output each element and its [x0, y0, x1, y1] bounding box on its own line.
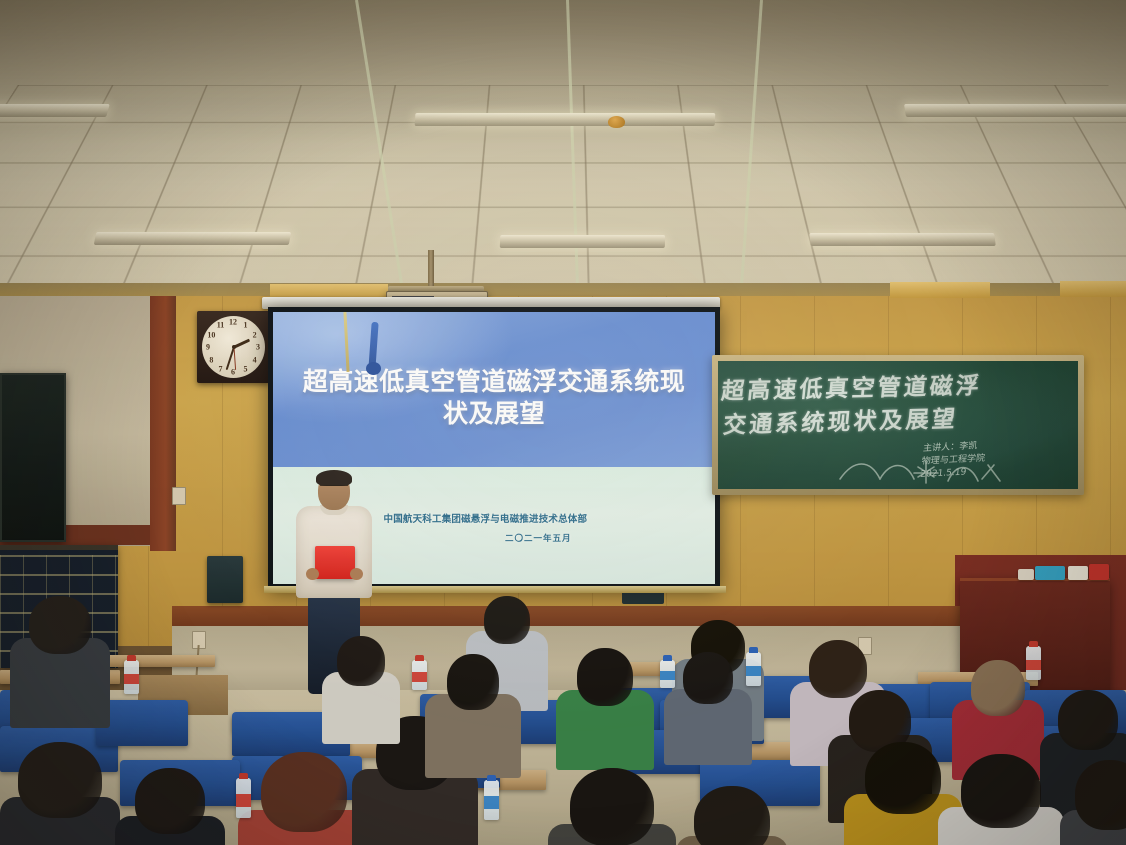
blackboard: 超高速低真空管道磁浮 交通系统现状及展望 主讲人：李凯 物理与工程学院 2021…: [718, 361, 1078, 489]
bottle-label: [124, 674, 139, 685]
audience-person-head: [865, 742, 941, 814]
bottle-label: [1026, 660, 1041, 671]
ceiling-light-fixture: [415, 113, 716, 126]
blackboard-signature: 主讲人：李凯 物理与工程学院 2021.5.19: [919, 435, 1074, 482]
ceiling-light-fixture: [0, 104, 110, 117]
audience-person-head: [447, 654, 499, 710]
audience-person-head: [971, 660, 1025, 716]
glasses-icon: [320, 485, 348, 492]
ceiling-shading: [0, 0, 1126, 300]
bottle-label: [236, 794, 251, 807]
ceiling-soffit-trim: [890, 282, 990, 298]
audience-person-head: [961, 754, 1041, 828]
bottle-label: [746, 666, 761, 677]
bottle-label: [412, 672, 427, 682]
clock-numeral: 4: [253, 355, 257, 364]
ceiling-soffit-trim: [1060, 281, 1126, 297]
clock-numeral: 7: [219, 364, 223, 373]
ceiling-light-fixture: [904, 104, 1126, 117]
water-bottle: [412, 660, 427, 690]
desk: [95, 655, 215, 667]
audience-person-17: [938, 754, 1064, 845]
chalk-flourish-drawing: [836, 453, 1016, 487]
audience-person-2: [0, 742, 120, 845]
bottle-cap: [127, 655, 136, 661]
clock-numeral: 6: [231, 368, 235, 377]
clock-face: 121234567891011: [202, 316, 265, 378]
audience-person-20: [676, 786, 788, 845]
audience-person-6: [322, 636, 400, 758]
audience-person-head: [570, 768, 654, 845]
audience-person-head: [135, 768, 205, 834]
wall-speaker: [207, 556, 243, 603]
ceiling: [0, 0, 1126, 300]
blackboard-frame: 超高速低真空管道磁浮 交通系统现状及展望 主讲人：李凯 物理与工程学院 2021…: [712, 355, 1084, 495]
audience-person-head: [577, 648, 633, 706]
slide-organization: 中国航天科工集团磁悬浮与电磁推进技术总体部: [384, 511, 693, 525]
clock-numeral: 12: [229, 318, 237, 327]
chalk-box: [1089, 564, 1109, 580]
water-bottle: [1026, 646, 1041, 680]
blackboard-signature-line-1: 主讲人：李凯: [922, 435, 1074, 456]
audience-person-head: [261, 752, 347, 832]
bottle-cap: [415, 655, 424, 661]
bottle-cap: [239, 773, 248, 779]
audience-person-4: [238, 752, 370, 845]
audience-person-head: [18, 742, 102, 818]
blackboard-signature-line-3: 2021.5.19: [919, 461, 1071, 482]
audience-person-19: [548, 768, 676, 845]
slide-date: 二〇二一年五月: [384, 532, 693, 544]
wall-socket: [172, 487, 186, 505]
audience-person-3: [115, 768, 225, 845]
clock-numeral: 10: [207, 330, 215, 339]
chalk-box: [1068, 566, 1088, 580]
clock-numeral: 1: [244, 321, 248, 330]
audience-person-head: [484, 596, 530, 644]
clock-numeral: 9: [206, 343, 210, 352]
audience-person-head: [29, 596, 91, 654]
blackboard-signature-line-2: 物理与工程学院: [921, 448, 1073, 469]
audience-person-head: [694, 786, 770, 845]
presenter-hand: [350, 568, 363, 580]
wall-clock: 121234567891011: [197, 311, 270, 383]
wall-lower-trim: [172, 606, 962, 628]
wall-display-panel: [0, 373, 66, 542]
clock-numeral: 11: [217, 321, 225, 330]
ceiling-light-fixture: [500, 235, 665, 248]
presenter-hand: [306, 568, 319, 580]
clock-numeral: 8: [209, 355, 213, 364]
audience-person-head: [1058, 690, 1118, 750]
bottle-label: [660, 671, 675, 680]
water-bottle: [746, 652, 761, 686]
audience-person-head: [1075, 760, 1126, 830]
audience-person-head: [337, 636, 385, 686]
audience-person-9: [556, 648, 654, 786]
water-bottle: [484, 780, 499, 820]
bottle-cap: [663, 655, 672, 661]
water-bottle: [236, 778, 251, 818]
bottle-cap: [749, 647, 758, 653]
bottle-cap: [487, 775, 496, 781]
lecture-hall-photo: 121234567891011 超高速低真空管道磁浮交通系统现状及展望 中国航天…: [0, 0, 1126, 845]
blackboard-line-1: 超高速低真空管道磁浮: [720, 364, 1077, 405]
chalk-box: [1018, 569, 1034, 580]
clock-numeral: 5: [244, 364, 248, 373]
water-bottle: [660, 660, 675, 688]
audience-person-11: [664, 652, 752, 780]
smoke-detector-icon: [608, 116, 625, 128]
presenter-red-folder: [315, 546, 355, 579]
water-bottle: [124, 660, 139, 694]
audience-person-8: [425, 654, 521, 794]
screen-pull-knob: [366, 362, 381, 375]
blackboard-line-2: 交通系统现状及展望: [722, 396, 1075, 440]
audience-person-head: [683, 652, 733, 704]
wall-pillar: [150, 296, 176, 551]
slide-title: 超高速低真空管道磁浮交通系统现状及展望: [300, 366, 689, 429]
bottle-label: [484, 796, 499, 809]
chalk-box: [1035, 566, 1065, 580]
audience-person-1: [10, 596, 110, 744]
ceiling-light-fixture: [94, 232, 292, 245]
clock-numeral: 3: [256, 343, 260, 352]
bottle-cap: [1029, 641, 1038, 647]
ceiling-light-fixture: [809, 233, 996, 246]
presenter-hair: [316, 470, 352, 486]
clock-center-pin: [232, 345, 236, 349]
audience-person-18: [1060, 760, 1126, 845]
clock-numeral: 2: [253, 330, 257, 339]
